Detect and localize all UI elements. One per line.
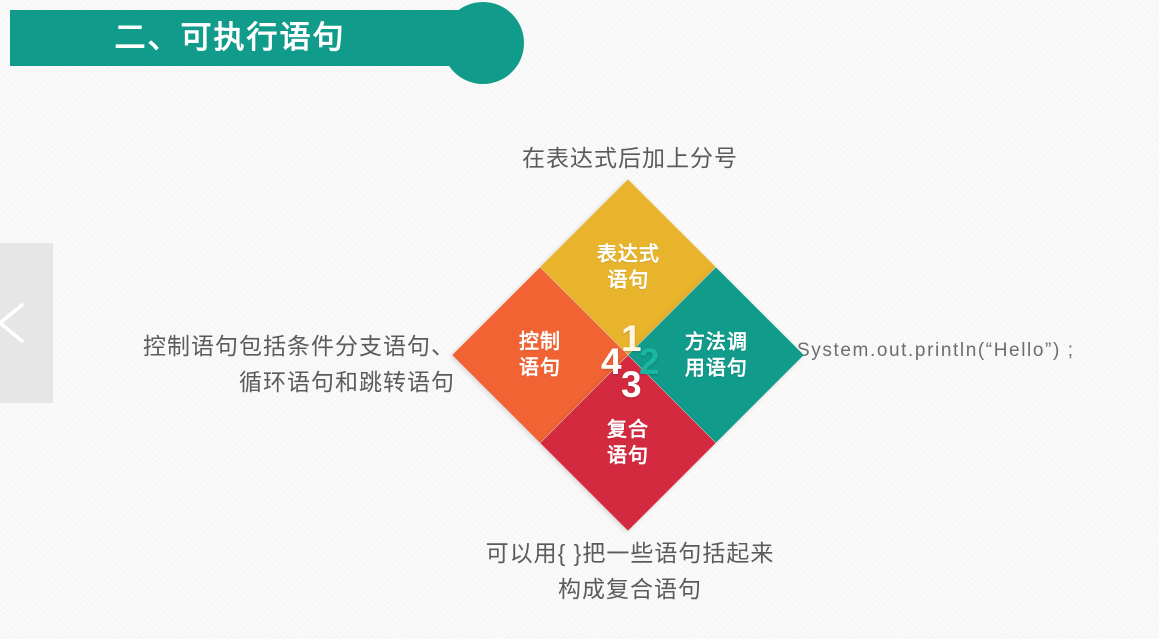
slide-canvas: 二、可执行语句 在表达式后加上分号 控制语句包括条件分支语句、 循环语句和跳转语… <box>0 0 1159 639</box>
diagram-number-2: 2 <box>639 343 660 380</box>
diagram-quadrant-label: 控制 语句 <box>519 329 561 381</box>
annotation-top: 在表达式后加上分号 <box>455 140 805 176</box>
header-circle-shape <box>442 2 524 84</box>
chevron-left-icon <box>0 299 32 347</box>
diagram-number-4: 4 <box>601 343 622 380</box>
page-title: 二、可执行语句 <box>10 10 450 66</box>
header-banner: 二、可执行语句 <box>10 10 490 66</box>
diagram-quadrant-label: 复合 语句 <box>607 417 649 469</box>
annotation-right-code: System.out.println(“Hello”) ; <box>797 340 1157 362</box>
diagram-number-3: 3 <box>621 366 642 403</box>
annotation-left: 控制语句包括条件分支语句、 循环语句和跳转语句 <box>55 328 455 400</box>
previous-slide-button[interactable] <box>0 243 53 403</box>
diagram-quadrant-label: 方法调 用语句 <box>685 329 748 381</box>
diamond-diagram: 表达式 语句 控制 语句 方法调 用语句 复合 语句 1 2 3 4 <box>453 180 803 530</box>
diagram-quadrant-label: 表达式 语句 <box>597 241 660 293</box>
annotation-bottom: 可以用{ }把一些语句括起来 构成复合语句 <box>440 535 820 607</box>
